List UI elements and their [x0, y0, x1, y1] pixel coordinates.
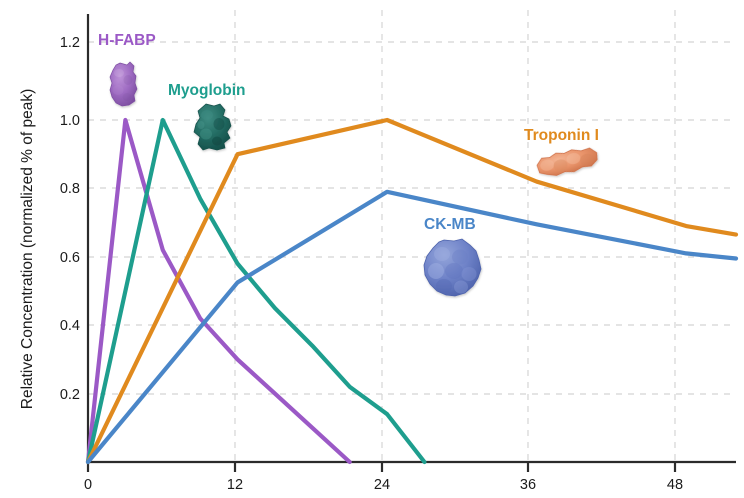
chart-svg: 1.2 1.0 0.8 0.6 0.4 0.2 0 12 24 36 48 Re… [0, 0, 744, 498]
x-tick-labels: 0 12 24 36 48 [84, 477, 683, 493]
x-tick-label-12: 12 [227, 477, 243, 493]
y-tick-label-1.0: 1.0 [60, 113, 80, 129]
x-tick-marks [88, 462, 675, 472]
y-tick-label-0.2: 0.2 [60, 387, 80, 403]
series-label-troponin-i: Troponin I [524, 127, 599, 144]
y-tick-label-0.6: 0.6 [60, 250, 80, 266]
x-tick-label-36: 36 [520, 477, 536, 493]
series-label-myoglobin: Myoglobin [168, 82, 246, 99]
x-tick-label-48: 48 [667, 477, 683, 493]
x-tick-label-24: 24 [374, 477, 390, 493]
ck-mb-structure-icon [424, 239, 481, 296]
troponin-i-structure-icon [535, 145, 599, 179]
series-annotation-labels: H-FABP Myoglobin Troponin I CK-MB [98, 32, 599, 233]
y-tick-label-0.4: 0.4 [60, 318, 80, 334]
y-axis-title: Relative Concentration (normalized % of … [19, 89, 36, 410]
series-label-h-fabp: H-FABP [98, 32, 156, 49]
h-fabp-structure-icon [110, 62, 137, 106]
series-line-ck-mb [88, 192, 736, 462]
myoglobin-structure-icon [194, 104, 231, 150]
biomarker-kinetics-chart: 1.2 1.0 0.8 0.6 0.4 0.2 0 12 24 36 48 Re… [0, 0, 744, 498]
y-tick-label-1.2: 1.2 [60, 35, 80, 51]
data-series-group [88, 120, 736, 462]
x-tick-label-0: 0 [84, 477, 92, 493]
y-tick-label-0.8: 0.8 [60, 181, 80, 197]
series-label-ck-mb: CK-MB [424, 216, 476, 233]
y-tick-labels: 1.2 1.0 0.8 0.6 0.4 0.2 [60, 35, 80, 403]
